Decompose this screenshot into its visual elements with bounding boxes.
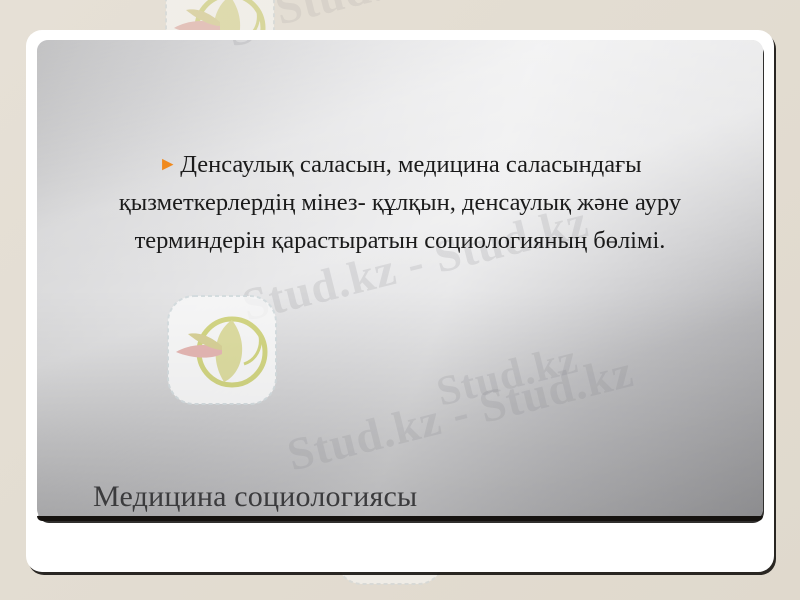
panel-shading bbox=[37, 40, 763, 520]
panel-bottom-divider bbox=[37, 516, 763, 521]
content-panel: Stud.kz Stud.kz - Stud.kz Stud.kz Stud.k… bbox=[37, 40, 763, 520]
slide-body-text: Денсаулық саласын, медицина саласындағы … bbox=[119, 151, 681, 254]
slide-title: Медицина социологиясы bbox=[93, 480, 417, 514]
slide-body: ►Денсаулық саласын, медицина саласындағы… bbox=[93, 146, 707, 260]
bullet-triangle-icon: ► bbox=[158, 154, 177, 175]
slide-canvas: Stud.kz Stud.kz Stud.kz Stud.kz - Stud.k… bbox=[0, 0, 800, 600]
